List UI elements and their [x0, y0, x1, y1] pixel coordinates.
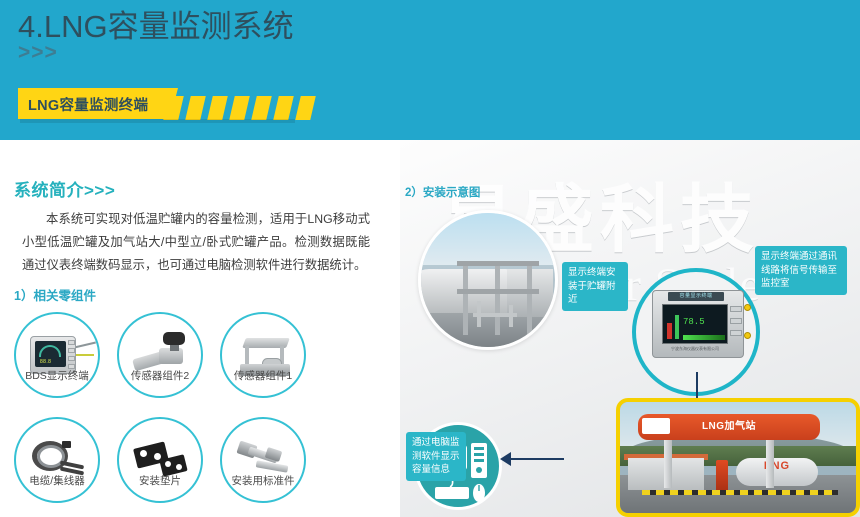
terminal-header-strip: 容量显示终端	[668, 292, 724, 301]
component-display-terminal[interactable]: 88.8 BDS显示终端	[14, 312, 100, 398]
terminal-knob-bottom	[744, 332, 751, 339]
component-circle	[117, 312, 203, 398]
standard-fastener-icon	[222, 419, 306, 503]
component-label: 安装用标准件	[214, 473, 312, 488]
lng-station-photo: LNG LNG加气站	[616, 398, 860, 517]
display-terminal-icon: 88.8	[16, 314, 100, 398]
page-root: 4.LNG容量监测系统 >>> LNG容量监测终端 系统简介>>> 本系统可实现…	[0, 0, 860, 517]
component-sensor-module-1[interactable]: 传感器组件1	[220, 312, 306, 398]
component-label: 安装垫片	[111, 473, 209, 488]
header-chevrons: >>>	[18, 42, 58, 64]
terminal-footer-text: 宁波东海仪器仪表有限公司	[662, 346, 728, 353]
terminal-screen: 78.5	[662, 304, 728, 344]
station-canopy-label: LNG加气站	[638, 414, 820, 440]
left-column: 系统简介>>> 本系统可实现对低温贮罐内的容量检测，适用于LNG移动式小型低温贮…	[0, 140, 400, 517]
component-circle	[14, 417, 100, 503]
component-circle: 88.8	[14, 312, 100, 398]
signal-transfer-callout: 显示终端通过通讯线路将信号传输至监控室	[755, 246, 847, 295]
system-intro-paragraph: 本系统可实现对低温贮罐内的容量检测，适用于LNG移动式小型低温贮罐及加气站大/中…	[22, 208, 370, 277]
component-standard-fastener[interactable]: 安装用标准件	[220, 417, 306, 503]
component-label: 传感器组件2	[111, 368, 209, 383]
component-label: BDS显示终端	[8, 368, 106, 383]
lng-tank-photo	[418, 210, 558, 350]
tank-install-callout: 显示终端安装于贮罐附近	[562, 262, 628, 311]
component-sensor-module-2[interactable]: 传感器组件2	[117, 312, 203, 398]
component-circle	[117, 417, 203, 503]
component-circle	[220, 312, 306, 398]
component-cable-hub[interactable]: 电缆/集线器	[14, 417, 100, 503]
page-body: 系统简介>>> 本系统可实现对低温贮罐内的容量检测，适用于LNG移动式小型低温贮…	[0, 140, 860, 517]
pc-software-callout: 通过电脑监测软件显示容量信息	[406, 432, 466, 481]
cable-hub-icon	[16, 419, 100, 503]
ribbon-label: LNG容量监测终端	[28, 94, 148, 115]
system-intro-title: 系统简介>>>	[14, 176, 115, 201]
sensor-module-1-icon	[222, 314, 306, 398]
right-column: 星盛科技 Mini Star Scale 2）安装示意图 显示终端安装于贮罐附近	[400, 140, 860, 517]
component-label: 传感器组件1	[214, 368, 312, 383]
page-header: 4.LNG容量监测系统 >>> LNG容量监测终端	[0, 0, 860, 140]
sensor-module-2-icon	[119, 314, 203, 398]
ribbon-shadow	[20, 119, 295, 123]
pc-arrow-line	[508, 458, 564, 460]
components-subtitle: 1）相关零组件	[14, 285, 96, 304]
station-tank-label: LNG	[736, 460, 818, 472]
terminal-screen-value: 78.5	[683, 317, 705, 327]
page-title: 4.LNG容量监测系统	[18, 8, 294, 46]
terminal-knob-top	[744, 304, 751, 311]
ribbon-banner: LNG容量监测终端	[18, 88, 318, 122]
component-circle	[220, 417, 306, 503]
mounting-pad-icon	[119, 419, 203, 503]
component-mounting-pad[interactable]: 安装垫片	[117, 417, 203, 503]
installation-diagram-title: 2）安装示意图	[405, 184, 480, 200]
component-label: 电缆/集线器	[8, 473, 106, 488]
pc-arrow-head	[500, 452, 511, 466]
